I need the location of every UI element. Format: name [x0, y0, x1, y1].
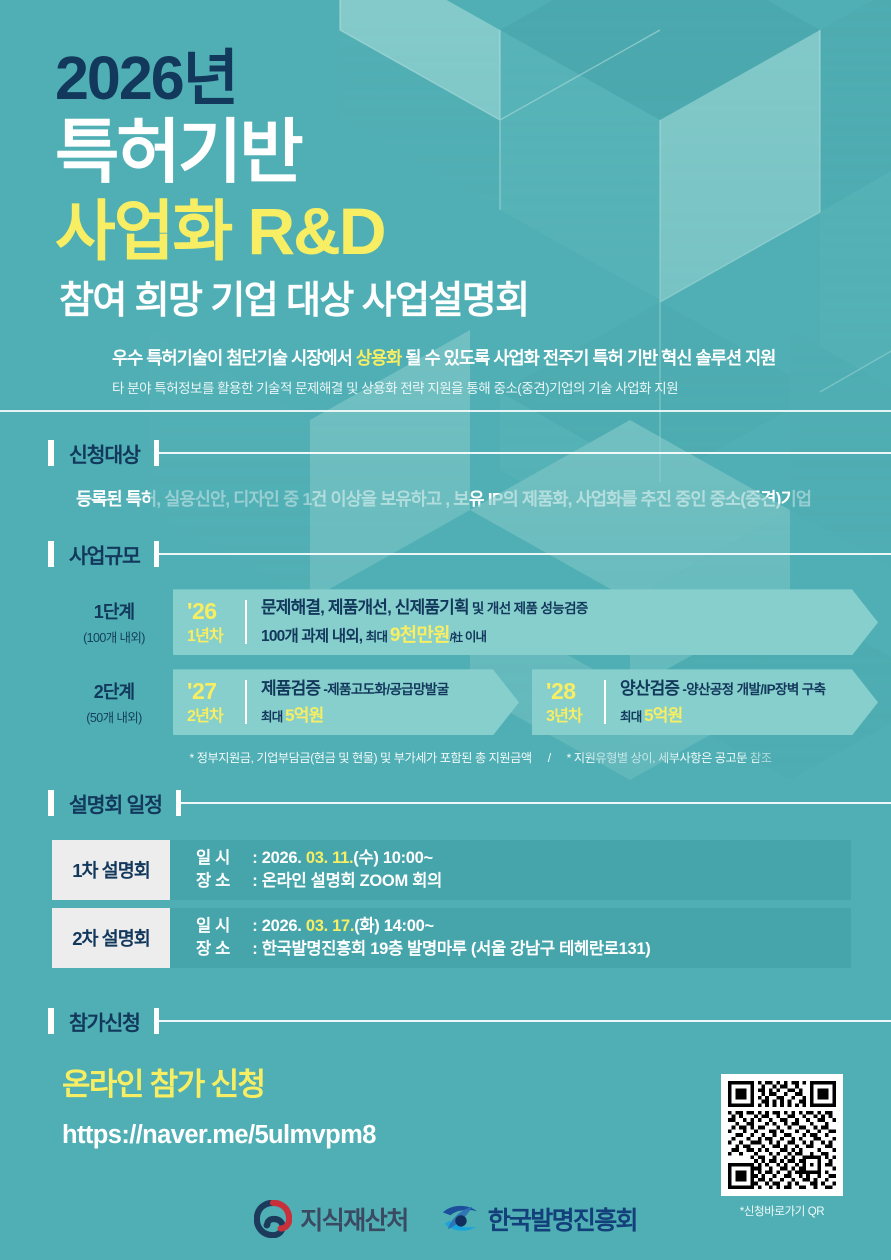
section-accent-bar — [48, 440, 54, 466]
stage-2-card-list: '27 2년차 제품검증 -제품고도화/공급망발굴 최대 5억원 '28 3년차 — [173, 669, 878, 735]
stage-1-year: '26 — [187, 598, 245, 624]
logo-kipo-label: 지식재산처 — [300, 1201, 408, 1237]
schedule-row-1-date-pre: : 2026. — [248, 849, 306, 867]
apply-content: 온라인 참가 신청 https://naver.me/5ulmvpm8 — [0, 1066, 891, 1149]
stage-1-row-2: 100개 과제 내외, 최대 9천만원/社 이내 — [261, 624, 588, 649]
target-description: 등록된 특허, 실용신안, 디자인 중 1건 이상을 보유하고 , 보유 IP의… — [76, 486, 891, 511]
schedule-row-1-body: 일 시 : 2026. 03. 11.(수) 10:00~ 장 소 : 온라인 … — [170, 840, 851, 900]
stage-1-year-group: '26 1년차 — [173, 589, 245, 655]
apply-section: 참가신청 온라인 참가 신청 https://naver.me/5ulmvpm8 — [0, 1006, 891, 1149]
logo-kipo: 지식재산처 — [254, 1200, 408, 1238]
qr-block[interactable]: *신청바로가기 QR — [721, 1074, 843, 1219]
section-header-apply: 참가신청 — [48, 1006, 891, 1036]
schedule-datetime-key: 일 시 — [196, 847, 248, 870]
schedule-row-2-label: 2차 설명회 — [52, 908, 170, 968]
logo-kipa-label: 한국발명진흥회 — [488, 1201, 637, 1237]
stage-1-body: 문제해결, 제품개선, 신제품기획 및 개선 제품 성능검증 100개 과제 내… — [247, 589, 594, 655]
stage-1-year-index: 1년차 — [187, 627, 245, 647]
stage-2-card-2-row-1-sub: -양산공정 개발/IP장벽 구축 — [679, 682, 825, 697]
section-header-target: 신청대상 — [48, 438, 891, 468]
schedule-row-1-date-post: (수) 10:00~ — [353, 849, 433, 867]
scale-footnote-left: * 정부지원금, 기업부담금(현금 및 현물) 및 부가세가 포함된 총 지원금… — [189, 751, 531, 765]
title-year: 2026년 — [55, 48, 891, 109]
stage-1-label: 1단계 — [55, 598, 173, 624]
stage-2-card-1-row-1-main: 제품검증 — [261, 679, 320, 698]
schedule-row-2: 2차 설명회 일 시 : 2026. 03. 17.(화) 14:00~ 장 소… — [52, 908, 851, 968]
schedule-row-1-date-highlight: 03. 11. — [306, 849, 353, 867]
stage-2-card-1-row-1: 제품검증 -제품고도화/공급망발굴 — [261, 678, 449, 700]
lead-highlight: 상용화 — [356, 348, 402, 368]
schedule-row-2-body: 일 시 : 2026. 03. 17.(화) 14:00~ 장 소 : 한국발명… — [170, 908, 851, 968]
section-accent-bar — [48, 1008, 54, 1034]
section-rule — [159, 452, 891, 454]
scale-footnote-divider: / — [548, 751, 551, 765]
stage-1-count: 100개 과제 내외, — [261, 628, 366, 645]
stage-2-card-2-amount: 5억원 — [644, 706, 682, 725]
schedule-row-1-datetime: 일 시 : 2026. 03. 11.(수) 10:00~ — [196, 847, 851, 870]
qr-code-icon[interactable] — [721, 1074, 843, 1196]
schedule-row-2-date-pre: : 2026. — [248, 917, 306, 935]
schedule-row-1-place: 장 소 : 온라인 설명회 ZOOM 회의 — [196, 870, 851, 893]
stage-1-row-1-main: 문제해결, 제품개선, 신제품기획 — [261, 598, 469, 617]
section-rule — [159, 1020, 891, 1022]
stage-2-card-2-year: '28 — [546, 678, 604, 704]
logo-kipa: 한국발명진흥회 — [440, 1200, 637, 1238]
poster-root: 2026년 특허기반 사업화 R&D 참여 희망 기업 대상 사업설명회 우수 … — [0, 0, 891, 1260]
stage-2-card-1-amount: 5억원 — [285, 706, 323, 725]
section-accent-bar — [48, 790, 54, 816]
stage-2-label-group: 2단계 (50개 내외) — [55, 678, 173, 726]
stage-2-card-2-year-index: 3년차 — [546, 707, 604, 727]
stage-row-1: 1단계 (100개 내외) '26 1년차 문제해결, 제품개선, 신제품기획 … — [0, 589, 891, 655]
stage-2-card-1-year: '27 — [187, 678, 245, 704]
lead-divider — [0, 410, 891, 412]
stage-2-card-2: '28 3년차 양산검증 -양산공정 개발/IP장벽 구축 최대 5억원 — [532, 669, 878, 735]
stage-1-label-group: 1단계 (100개 내외) — [55, 598, 173, 646]
lead-text-d: 특허 기반 혁신 솔루션 지원 — [592, 348, 775, 368]
stage-1-card: '26 1년차 문제해결, 제품개선, 신제품기획 및 개선 제품 성능검증 1… — [173, 589, 878, 655]
section-header-schedule: 설명회 일정 — [48, 788, 891, 818]
lead-text-c: 될 수 있도록 사업화 전주기 — [401, 348, 592, 368]
section-rule — [159, 553, 891, 555]
lead-paragraphs: 우수 특허기술이 첨단기술 시장에서 상용화 될 수 있도록 사업화 전주기 특… — [0, 325, 891, 413]
scale-section: 사업규모 1단계 (100개 내외) '26 1년차 문제해결, — [0, 539, 891, 766]
title-line-3: 사업화 R&D — [55, 195, 891, 268]
scale-footnote: * 정부지원금, 기업부담금(현금 및 현물) 및 부가세가 포함된 총 지원금… — [110, 748, 891, 766]
scale-footnote-right: * 지원유형별 상이, 세부사항은 공고문 참조 — [567, 751, 772, 765]
stage-1-row-1: 문제해결, 제품개선, 신제품기획 및 개선 제품 성능검증 — [261, 597, 588, 619]
lead-text-b: 이 첨단기술 시장에서 — [207, 348, 356, 368]
stage-2-card-2-max-label: 최대 — [620, 710, 644, 724]
taegeuk-emblem-icon — [254, 1200, 292, 1238]
schedule-row-2-place-value: : 한국발명진흥회 19층 발명마루 (서울 강남구 테헤란로131) — [248, 940, 650, 958]
stage-2-card-2-body: 양산검증 -양산공정 개발/IP장벽 구축 최대 5억원 — [606, 669, 831, 735]
stage-2-card-1-year-index: 2년차 — [187, 707, 245, 727]
footer-logos: 지식재산처 한국발명진흥회 — [0, 1200, 891, 1238]
lead-strong-a: 우수 특허기술 — [112, 348, 207, 368]
lead-line-1: 우수 특허기술이 첨단기술 시장에서 상용화 될 수 있도록 사업화 전주기 특… — [112, 347, 891, 371]
scale-stage-list: 1단계 (100개 내외) '26 1년차 문제해결, 제품개선, 신제품기획 … — [0, 589, 891, 766]
schedule-section: 설명회 일정 1차 설명회 일 시 : 2026. 03. 11.(수) 10:… — [0, 788, 891, 968]
schedule-row-1-place-value: : 온라인 설명회 ZOOM 회의 — [248, 872, 442, 890]
stage-2-card-1-year-group: '27 2년차 — [173, 669, 245, 735]
stage-2-card-1-row-2: 최대 5억원 — [261, 705, 449, 727]
lead-line-2: 타 분야 특허정보를 활용한 기술적 문제해결 및 상용화 전략 지원을 통해 … — [112, 377, 891, 397]
stage-2-label: 2단계 — [55, 678, 173, 704]
stage-2-card-1-body: 제품검증 -제품고도화/공급망발굴 최대 5억원 — [247, 669, 455, 735]
stage-1-amount-unit: /社 — [450, 632, 462, 644]
schedule-datetime-key: 일 시 — [196, 915, 248, 938]
stage-2-card-2-year-group: '28 3년차 — [532, 669, 604, 735]
schedule-place-key: 장 소 — [196, 870, 248, 893]
schedule-row-1-label: 1차 설명회 — [52, 840, 170, 900]
stage-1-row-1-sub: 및 개선 제품 성능검증 — [469, 601, 588, 616]
section-title-target: 신청대상 — [69, 438, 140, 468]
stage-2-card-2-row-1-main: 양산검증 — [620, 679, 679, 698]
kipa-swoosh-icon — [440, 1200, 480, 1238]
stage-2-card-2-row-2: 최대 5억원 — [620, 705, 825, 727]
schedule-row-2-datetime: 일 시 : 2026. 03. 17.(화) 14:00~ — [196, 915, 851, 938]
section-header-scale: 사업규모 — [48, 539, 891, 569]
stage-1-amount: 9천만원 — [390, 625, 450, 646]
section-title-schedule: 설명회 일정 — [69, 788, 162, 818]
stage-1-amount-tail: 이내 — [462, 630, 486, 644]
stage-2-card-2-row-1: 양산검증 -양산공정 개발/IP장벽 구축 — [620, 678, 825, 700]
stage-2-card-1-row-1-sub: -제품고도화/공급망발굴 — [320, 682, 448, 697]
schedule-row-2-date-highlight: 03. 17. — [306, 917, 354, 935]
title-line-2: 특허기반 — [55, 115, 891, 191]
schedule-row-2-place: 장 소 : 한국발명진흥회 19층 발명마루 (서울 강남구 테헤란로131) — [196, 938, 851, 961]
section-rule — [181, 802, 891, 804]
stage-2-card-1-max-label: 최대 — [261, 710, 285, 724]
stage-1-max-label: 최대 — [366, 630, 390, 644]
stage-1-sublabel: (100개 내외) — [55, 627, 173, 646]
title-line-4: 참여 희망 기업 대상 사업설명회 — [55, 279, 891, 325]
stage-2-sublabel: (50개 내외) — [55, 707, 173, 726]
section-accent-bar — [48, 541, 54, 567]
stage-2-card-1: '27 2년차 제품검증 -제품고도화/공급망발굴 최대 5억원 — [173, 669, 519, 735]
target-section: 신청대상 등록된 특허, 실용신안, 디자인 중 1건 이상을 보유하고 , 보… — [0, 438, 891, 511]
schedule-row-1: 1차 설명회 일 시 : 2026. 03. 11.(수) 10:00~ 장 소… — [52, 840, 851, 900]
poster-header: 2026년 특허기반 사업화 R&D 참여 희망 기업 대상 사업설명회 — [0, 0, 891, 325]
schedule-row-2-date-post: (화) 14:00~ — [354, 917, 434, 935]
section-title-apply: 참가신청 — [69, 1006, 140, 1036]
schedule-place-key: 장 소 — [196, 938, 248, 961]
stage-row-2: 2단계 (50개 내외) '27 2년차 제품검증 -제품고도화/공급망발굴 최… — [0, 669, 891, 735]
schedule-table: 1차 설명회 일 시 : 2026. 03. 11.(수) 10:00~ 장 소… — [0, 840, 891, 968]
section-title-scale: 사업규모 — [69, 539, 140, 569]
